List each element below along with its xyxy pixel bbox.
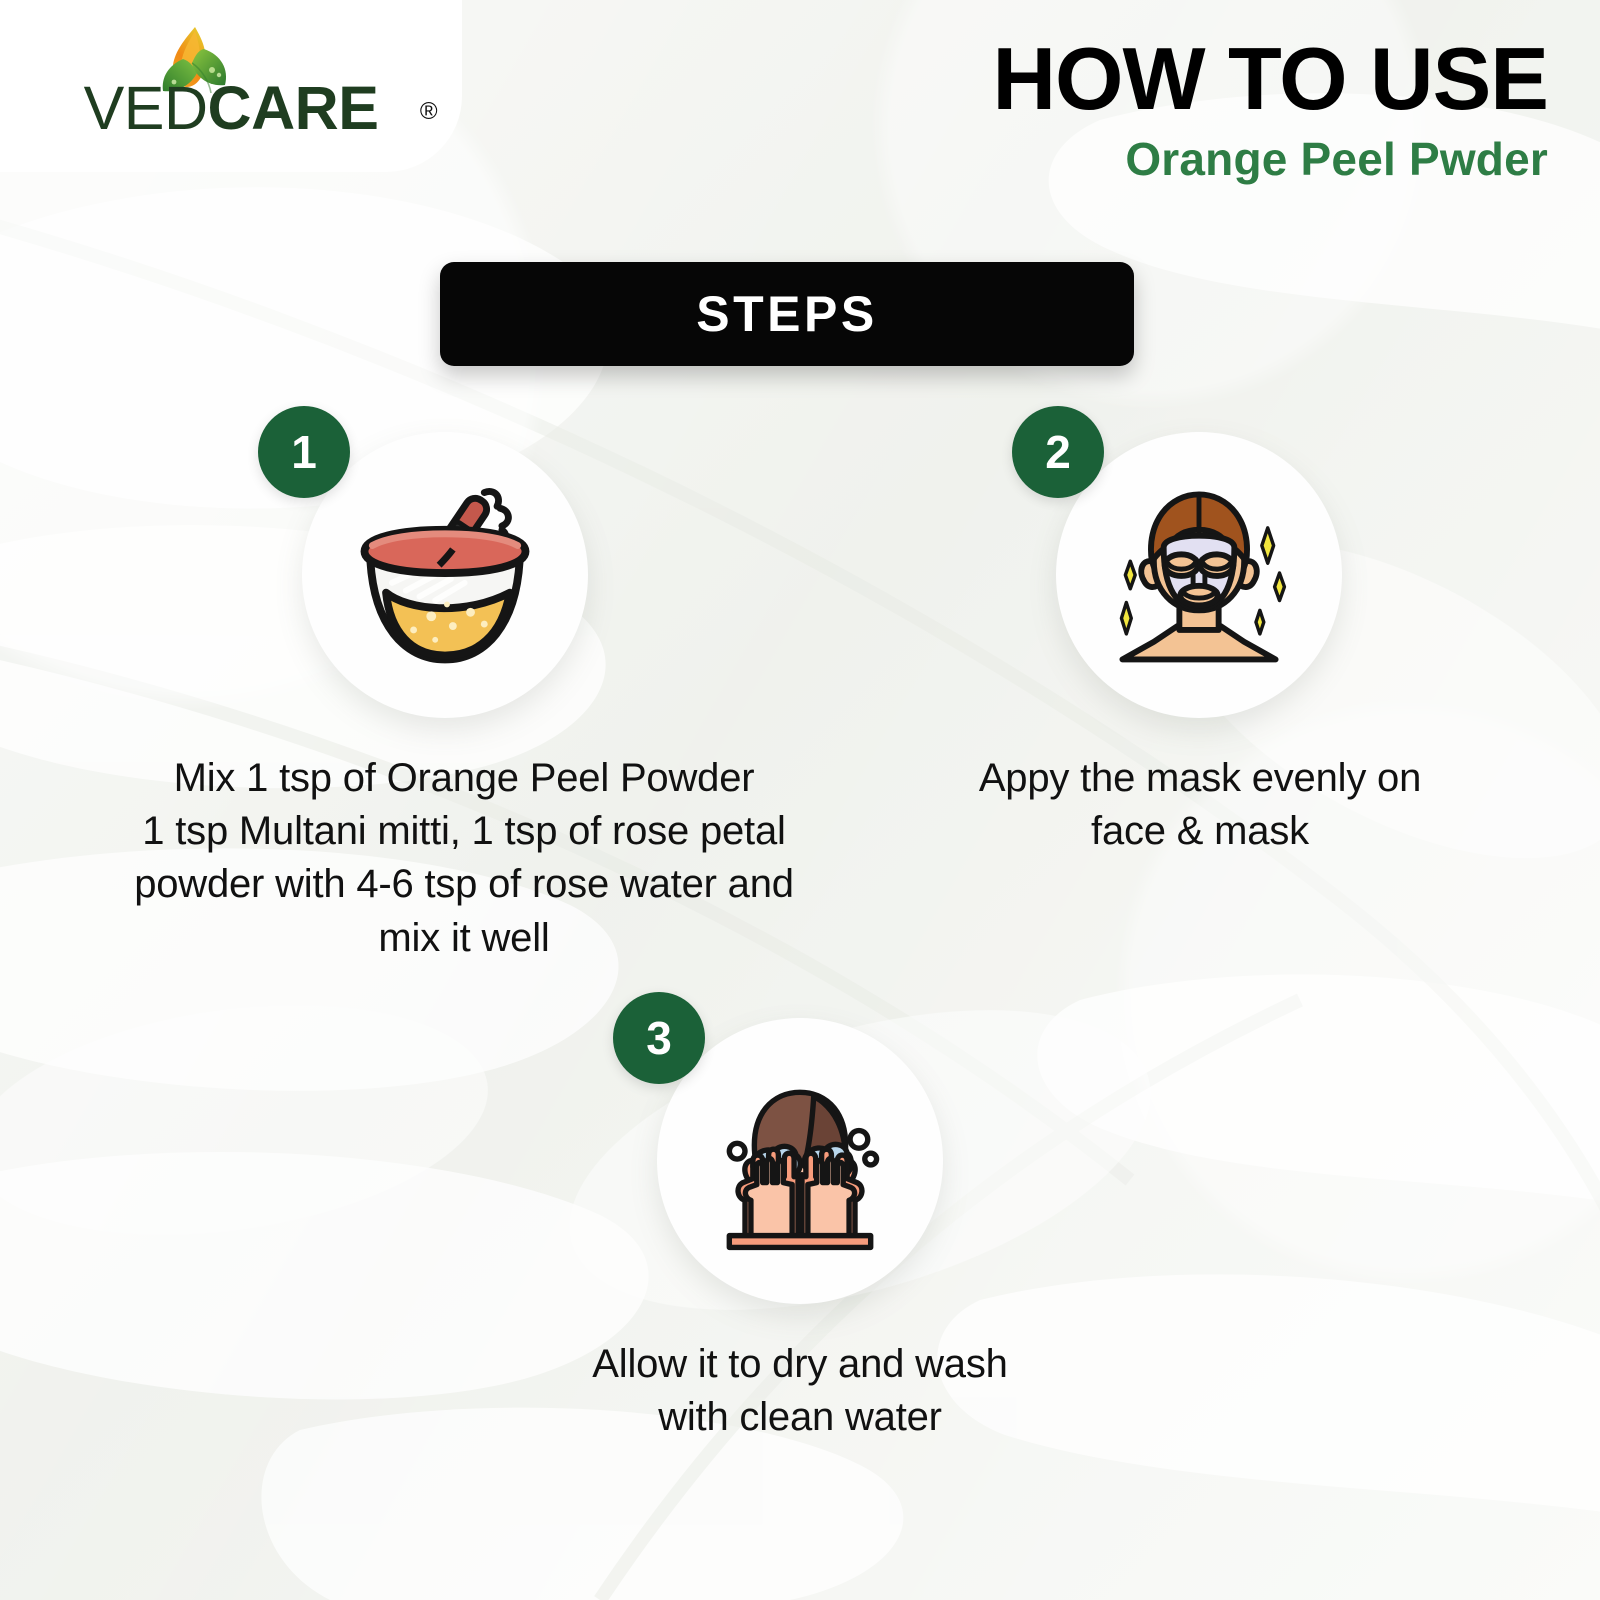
- page-subtitle: Orange Peel Pwder: [992, 132, 1548, 186]
- step-2: 2: [900, 432, 1500, 858]
- step-3-number-badge: 3: [613, 992, 705, 1084]
- steps-banner-label: STEPS: [696, 285, 877, 343]
- step-2-icon-bubble: 2: [1056, 432, 1342, 718]
- washing-face-icon: [692, 1053, 908, 1269]
- brand-logo-card: VEDCARE ®: [0, 0, 462, 172]
- page-title: HOW TO USE: [992, 34, 1548, 124]
- registered-trademark-icon: ®: [420, 100, 437, 124]
- brand-wordmark: VEDCARE ®: [51, 78, 411, 139]
- step-2-caption: Appy the mask evenly on face & mask: [900, 752, 1500, 858]
- face-sheet-mask-icon: [1091, 467, 1307, 683]
- step-1-caption: Mix 1 tsp of Orange Peel Powder 1 tsp Mu…: [94, 752, 834, 965]
- step-1: 1: [94, 432, 834, 965]
- step-3-icon-bubble: 3: [657, 1018, 943, 1304]
- step-1-icon-bubble: 1: [302, 432, 588, 718]
- step-2-number-badge: 2: [1012, 406, 1104, 498]
- brand-name-bold: CARE: [208, 74, 379, 142]
- brand-name-light: VED: [84, 74, 208, 142]
- step-1-number-badge: 1: [258, 406, 350, 498]
- step-3: 3: [500, 1018, 1100, 1444]
- header-block: HOW TO USE Orange Peel Pwder: [992, 34, 1548, 186]
- mixing-bowl-whisk-icon: [337, 467, 553, 683]
- step-3-caption: Allow it to dry and wash with clean wate…: [500, 1338, 1100, 1444]
- steps-banner: STEPS: [440, 262, 1134, 366]
